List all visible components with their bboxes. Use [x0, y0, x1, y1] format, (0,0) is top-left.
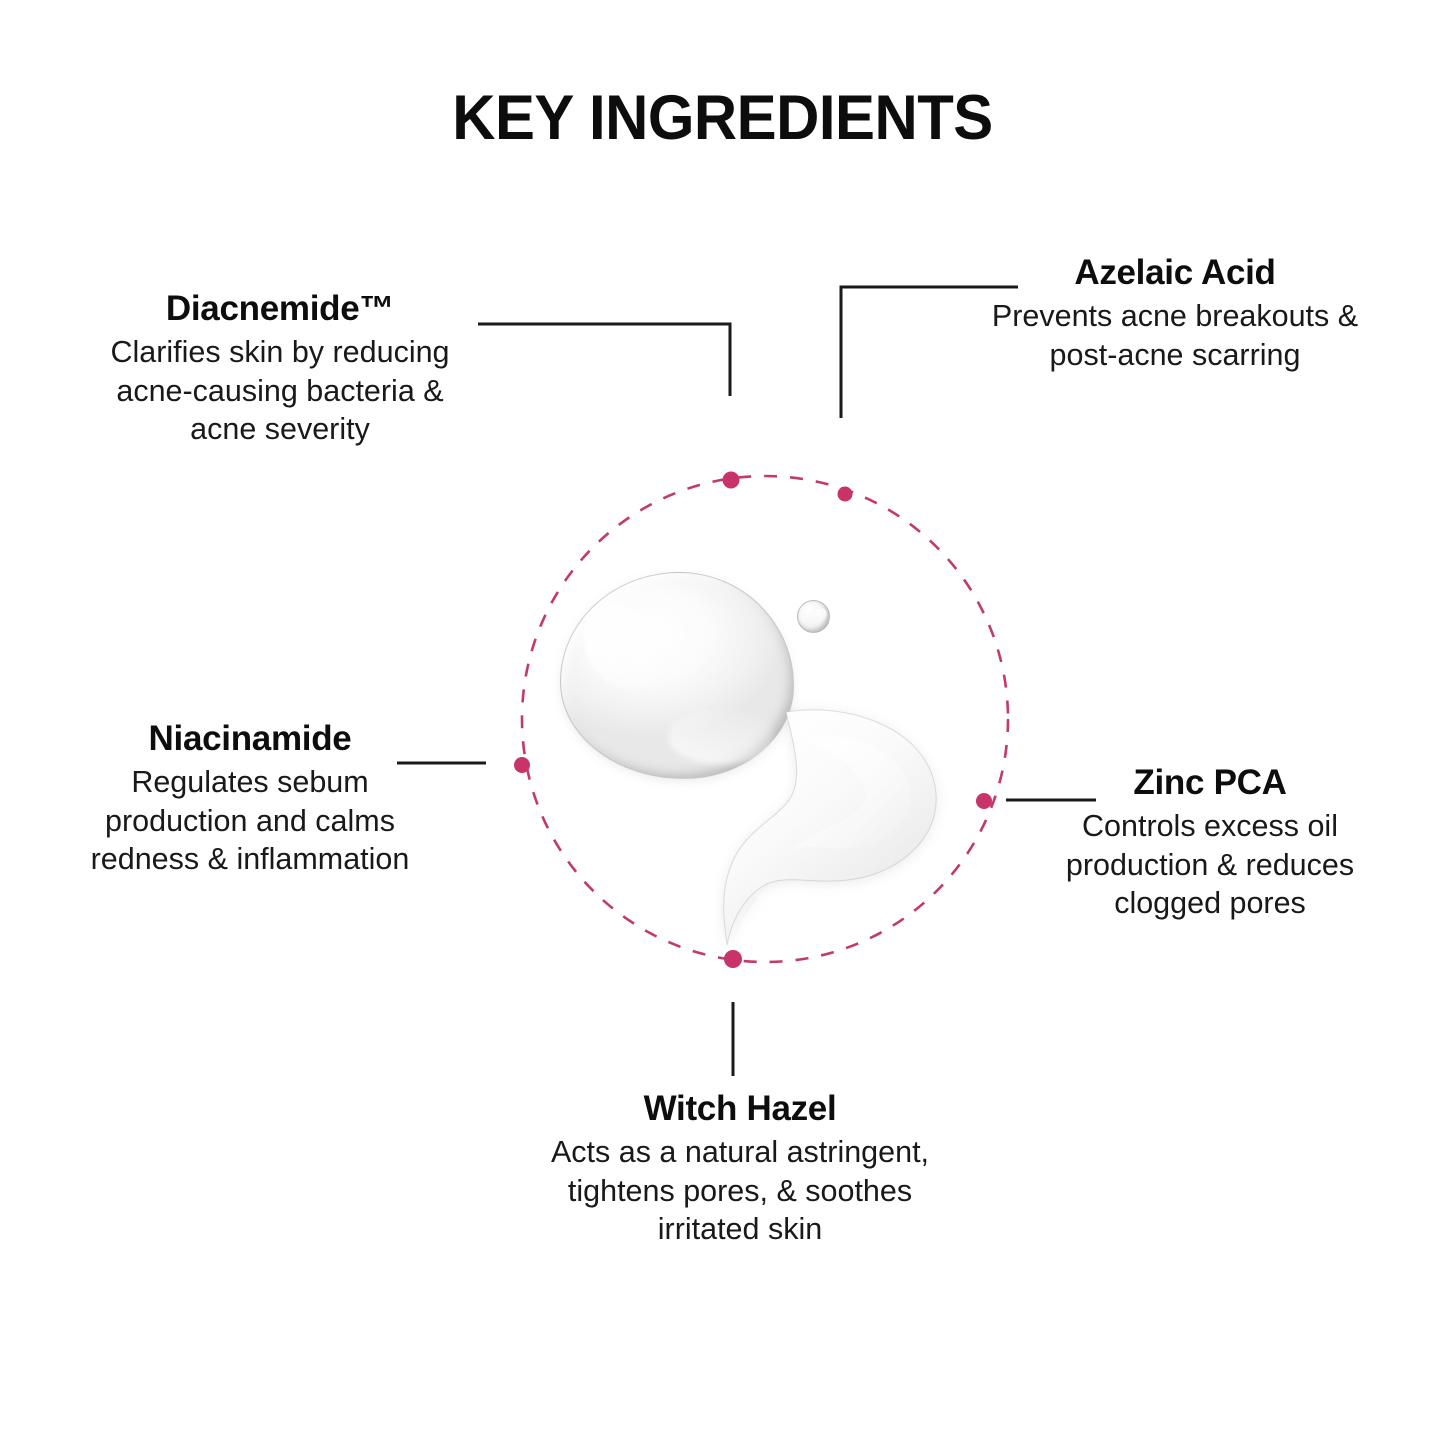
ingredient-name-witch-hazel: Witch Hazel: [470, 1088, 1010, 1129]
ingredient-diacnemide: Diacnemide™ Clarifies skin by reducing a…: [38, 288, 522, 449]
node-dot-zinc-pca: [976, 793, 992, 809]
page-title: KEY INGREDIENTS: [36, 82, 1409, 154]
ingredient-description-niacinamide: Regulates sebum production and calms red…: [30, 763, 470, 878]
ingredient-name-azelaic-acid: Azelaic Acid: [930, 252, 1420, 293]
dashed-accent-circle: [522, 476, 1008, 962]
ingredient-name-diacnemide: Diacnemide™: [38, 288, 522, 329]
gel-droplet: [560, 572, 794, 779]
gel-droplet-small-icon: [797, 600, 830, 633]
ingredient-zinc-pca: Zinc PCA Controls excess oil production …: [1000, 762, 1420, 923]
ingredient-azelaic-acid: Azelaic Acid Prevents acne breakouts & p…: [930, 252, 1420, 374]
ingredient-description-witch-hazel: Acts as a natural astringent, tightens p…: [470, 1133, 1010, 1248]
node-dot-diacnemide: [723, 472, 740, 489]
node-dot-azelaic-acid: [838, 487, 853, 502]
ingredient-niacinamide: Niacinamide Regulates sebum production a…: [30, 718, 470, 879]
node-dot-witch-hazel: [724, 950, 742, 968]
ingredient-name-zinc-pca: Zinc PCA: [1000, 762, 1420, 803]
ingredient-description-zinc-pca: Controls excess oil production & reduces…: [1000, 807, 1420, 922]
ingredient-description-azelaic-acid: Prevents acne breakouts & post-acne scar…: [930, 297, 1420, 374]
ingredient-witch-hazel: Witch Hazel Acts as a natural astringent…: [470, 1088, 1010, 1249]
cream-swirl: [700, 700, 960, 950]
node-dot-niacinamide: [514, 757, 530, 773]
ingredient-name-niacinamide: Niacinamide: [30, 718, 470, 759]
key-ingredients-infographic: KEY INGREDIENTS: [0, 0, 1445, 1445]
ingredient-description-diacnemide: Clarifies skin by reducing acne-causing …: [38, 333, 522, 448]
